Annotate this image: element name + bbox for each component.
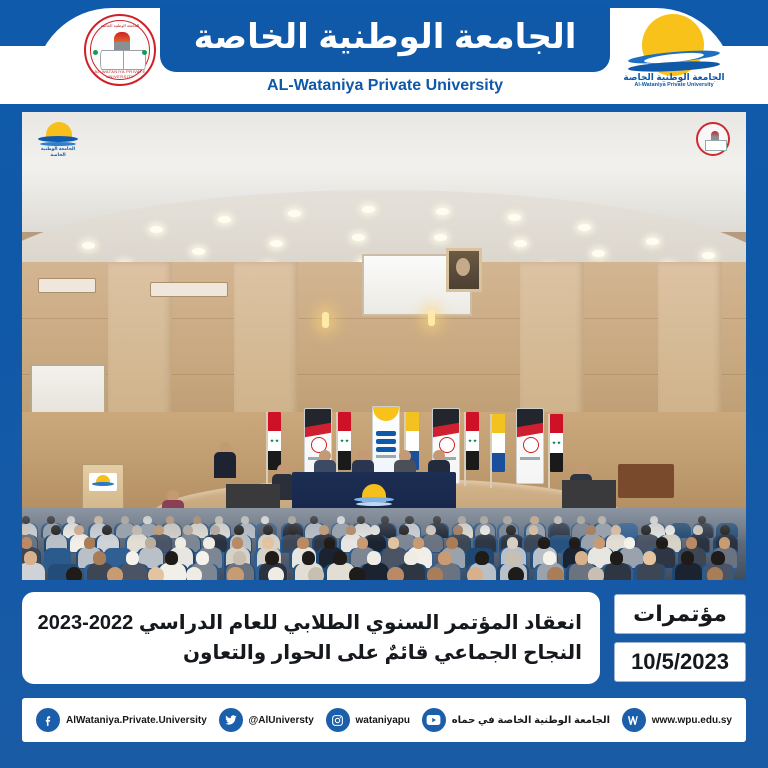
audience-member-head <box>388 537 399 548</box>
audience-member-head <box>643 551 657 565</box>
national-flag <box>550 414 563 472</box>
audience-member-headscarf <box>261 516 269 524</box>
flag-band-bottom <box>492 453 505 472</box>
audience-member-head <box>66 567 82 580</box>
side-table <box>618 464 674 498</box>
banner-text-line <box>376 455 396 458</box>
ceiling-lamp <box>514 240 527 247</box>
audience-member-head <box>698 516 706 524</box>
ceiling-lamp <box>646 238 659 245</box>
national-flag <box>466 412 479 470</box>
audience-member-headscarf <box>121 516 129 524</box>
ceiling-lamp <box>82 242 95 249</box>
audience-member-headscarf <box>126 551 140 565</box>
audience-member-head <box>387 567 403 580</box>
social-handle-label: wataniyapu <box>356 715 410 726</box>
audience-member-head <box>227 567 243 580</box>
header-english-title: AL-Wataniya Private University <box>160 74 610 98</box>
audience-member-head <box>453 525 463 535</box>
audience-member-headscarf <box>577 516 585 524</box>
audience-member-head <box>399 525 409 535</box>
caption-box: انعقاد المؤتمر السنوي الطلابي للعام الدر… <box>22 592 600 684</box>
audience-member-head <box>656 537 667 548</box>
audience-member-head <box>438 551 452 565</box>
audience-member-head <box>427 567 443 580</box>
seal-dot-left-icon <box>93 50 98 55</box>
event-photo-frame: الجامعة الوطنية الخاصة <box>22 112 746 580</box>
audience-member-head <box>610 551 624 565</box>
audience-member-head <box>232 537 243 548</box>
audience-member-head <box>433 516 441 524</box>
audience-member-headscarf <box>506 551 520 565</box>
podium-wave-icon <box>92 482 114 486</box>
table-wave2-icon <box>356 502 392 506</box>
audience-member-headscarf <box>370 525 380 535</box>
audience-member-head <box>94 516 102 524</box>
wall-sconce <box>428 310 435 326</box>
audience-member-headscarf <box>308 567 324 580</box>
audience-member-head <box>324 537 335 548</box>
audience-member-headscarf <box>67 516 75 524</box>
audience-member-headscarf <box>543 551 557 565</box>
seal-dot-right-icon <box>142 50 147 55</box>
audience-member-body <box>604 563 632 580</box>
wall-pier <box>234 262 298 432</box>
ceiling-lamp <box>352 234 365 241</box>
audience-member-headscarf <box>588 567 604 580</box>
ceiling-lamp <box>192 248 205 255</box>
social-handle-label: الجامعة الوطنية الخاصة في حماه <box>452 715 610 726</box>
social-footer: AlWataniya.Private.University@AlUniverst… <box>22 698 746 742</box>
audience-member-headscarf <box>22 525 30 535</box>
ceiling-lamp <box>434 234 447 241</box>
audience-member-head <box>165 551 179 565</box>
national-flag <box>268 412 281 470</box>
audience-member-headscarf <box>215 516 223 524</box>
flag-band-top <box>338 412 351 431</box>
twitter-icon <box>219 708 243 732</box>
audience-member-head <box>381 516 389 524</box>
audience-member-body <box>637 563 665 580</box>
watermark-label: الجامعة الوطنية الخاصة <box>36 146 80 158</box>
audience-member-head <box>686 537 697 548</box>
audience-member-head <box>475 551 489 565</box>
audience-member-headscarf <box>404 551 418 565</box>
audience-member-headscarf <box>288 516 296 524</box>
audience-member-headscarf <box>458 516 466 524</box>
audience-member-head <box>102 525 112 535</box>
ceiling-lamp <box>362 206 375 213</box>
audience-member-head <box>319 525 329 535</box>
caption-area: انعقاد المؤتمر السنوي الطلابي للعام الدر… <box>22 592 746 684</box>
air-vent <box>38 278 96 293</box>
page-header: الجامعة الوطنية الخاصة AL-Wataniya Priva… <box>0 0 768 104</box>
audience-member-head <box>681 551 695 565</box>
caption-line-1: انعقاد المؤتمر السنوي الطلابي للعام الدر… <box>38 608 582 638</box>
wall-pier <box>658 262 722 432</box>
audience-member-headscarf <box>624 537 635 548</box>
audience-member-head <box>310 516 318 524</box>
audience-member-headscarf <box>480 516 488 524</box>
audience-member-body <box>361 563 389 580</box>
flag-band-top <box>466 412 479 431</box>
flag-band-mid <box>338 431 351 451</box>
flag-band-mid <box>406 431 419 451</box>
banner-bar <box>376 431 396 436</box>
audience-member-body <box>675 563 703 580</box>
ceiling-lamp <box>578 224 591 231</box>
ceiling-lamp <box>288 210 301 217</box>
banner-text-line <box>520 457 540 460</box>
rollup-banner <box>516 408 544 484</box>
flag-band-mid <box>466 431 479 451</box>
audience-member-head <box>302 551 316 565</box>
youtube-icon <box>422 708 446 732</box>
flag-band-mid <box>268 431 281 451</box>
university-seal-icon: الجامعة الوطنية الخاصة AL-WATANIYA PRIVA… <box>84 14 156 86</box>
flag-band-bottom <box>550 453 563 472</box>
audience-member-headscarf <box>145 537 156 548</box>
audience-member-head <box>346 525 356 535</box>
audience-member-head <box>84 537 95 548</box>
university-sun-logo-icon: الجامعة الوطنية الخاصة Al-Wataniya Priva… <box>622 12 726 92</box>
audience-member-body <box>120 563 148 580</box>
ceiling-lamp <box>218 216 231 223</box>
audience-member-headscarf <box>507 537 518 548</box>
audience-member-headscarf <box>143 516 151 524</box>
audience-member-headscarf <box>196 551 210 565</box>
ceiling-lamp <box>150 226 163 233</box>
audience-member-head <box>107 567 123 580</box>
audience-member-head <box>357 516 365 524</box>
social-link-instagram[interactable]: wataniyapu <box>326 708 410 732</box>
audience-member-headscarf <box>210 525 220 535</box>
audience-member-head <box>586 525 596 535</box>
audience-member-headscarf <box>132 525 142 535</box>
audience-member-head <box>262 537 273 548</box>
audience-member-head <box>22 537 32 548</box>
audience-member-head <box>707 567 723 580</box>
poster-canvas: الجامعة الوطنية الخاصة AL-Wataniya Priva… <box>0 0 768 768</box>
audience-member-headscarf <box>367 551 381 565</box>
audience-member-headscarf <box>337 516 345 524</box>
audience-member-head <box>575 551 589 565</box>
audience-member-head <box>506 525 516 535</box>
ceiling-lamp <box>592 250 605 257</box>
audience-member-head <box>193 516 201 524</box>
audience-member-head <box>711 551 725 565</box>
social-handle-label: AlWataniya.Private.University <box>66 715 207 726</box>
audience-member-head <box>547 567 563 580</box>
audience-member-headscarf <box>241 516 249 524</box>
audience-member-headscarf <box>175 537 186 548</box>
ceiling-lamp <box>702 252 715 259</box>
audience-member-head <box>47 516 55 524</box>
audience-member-head <box>641 525 651 535</box>
banner-bar <box>376 439 396 444</box>
audience-member-headscarf <box>480 525 490 535</box>
audience-member-body <box>22 563 45 580</box>
flag-band-bottom <box>338 451 351 470</box>
social-handle-label: www.wpu.edu.sy <box>652 715 732 726</box>
audience-member-head <box>263 525 273 535</box>
audience-member-headscarf <box>665 525 675 535</box>
flag-band-top <box>268 412 281 431</box>
audience-member-headscarf <box>186 567 202 580</box>
audience-member-head <box>594 537 605 548</box>
photo-watermark-logo-icon: الجامعة الوطنية الخاصة <box>36 122 80 154</box>
ceiling-lamp <box>270 240 283 247</box>
table-logo-icon <box>352 484 396 510</box>
caption-line-2: النجاح الجماعي قائمٌ على الحوار والتعاون <box>183 638 582 668</box>
social-link-youtube[interactable]: الجامعة الوطنية الخاصة في حماه <box>422 708 610 732</box>
air-vent <box>150 282 228 297</box>
audience-member-head <box>538 537 549 548</box>
seal-top-arc-text: الجامعة الوطنية الخاصة <box>86 23 154 28</box>
banner-emblem-icon <box>523 437 539 453</box>
podium-logo-plate <box>89 473 117 491</box>
wall-sconce <box>322 312 329 328</box>
banner-bar <box>376 447 396 452</box>
audience-member-head <box>530 516 538 524</box>
flag-band-bottom <box>466 451 479 470</box>
audience-member-head <box>413 537 424 548</box>
audience-member-head <box>349 567 365 580</box>
flag-band-mid <box>492 433 505 453</box>
audience-member-headscarf <box>503 516 511 524</box>
photo-seal-book-icon <box>705 140 727 151</box>
header-arabic-title: الجامعة الوطنية الخاصة <box>160 4 610 70</box>
event-photo: الجامعة الوطنية الخاصة <box>22 112 746 580</box>
photo-corner-seal-icon <box>696 122 730 156</box>
flag-band-top <box>492 414 505 433</box>
audience-member-head <box>611 525 621 535</box>
sun-logo-english-label: Al-Wataniya Private University <box>622 82 726 88</box>
audience-member-head <box>405 516 413 524</box>
social-link-facebook[interactable]: AlWataniya.Private.University <box>36 708 207 732</box>
ceiling-lamp <box>436 208 449 215</box>
audience-member-head <box>446 537 457 548</box>
audience-member-head <box>569 537 580 548</box>
banner-header <box>373 407 399 421</box>
audience-member-head <box>265 551 279 565</box>
seal-book-icon <box>100 50 146 70</box>
university-flag <box>492 414 505 472</box>
audience-member-head <box>288 525 298 535</box>
category-badge: مؤتمرات <box>614 594 746 634</box>
audience-member-headscarf <box>268 567 284 580</box>
date-badge: 10/5/2023 <box>614 642 746 682</box>
seal-bottom-arc-text: AL-WATANIYA PRIVATE UNIVERSITY <box>86 69 154 79</box>
audience-member-headscarf <box>693 525 703 535</box>
standing-attendee <box>214 442 236 468</box>
flag-band-top <box>406 412 419 431</box>
audience-member-head <box>24 551 38 565</box>
wall-pier <box>520 262 584 432</box>
national-flag <box>338 412 351 470</box>
flag-band-mid <box>550 433 563 453</box>
audience-member-headscarf <box>233 551 247 565</box>
social-handle-label: @AlUniversty <box>249 715 314 726</box>
audience-member-headscarf <box>203 537 214 548</box>
audience-member-head <box>148 567 164 580</box>
wall-portrait <box>446 248 482 292</box>
audience-member-head <box>333 551 347 565</box>
flag-band-top <box>550 414 563 433</box>
audience-member-head <box>719 537 730 548</box>
instagram-icon <box>326 708 350 732</box>
audience-member-headscarf <box>183 525 193 535</box>
audience-member-headscarf <box>598 516 606 524</box>
person-body <box>214 452 236 478</box>
audience-member-head <box>467 567 483 580</box>
facebook-icon <box>36 708 60 732</box>
audience-member-head <box>297 537 308 548</box>
ceiling-lamp <box>508 214 521 221</box>
audience-member-head <box>93 551 107 565</box>
social-link-website[interactable]: www.wpu.edu.sy <box>622 708 732 732</box>
audience-member-head <box>357 537 368 548</box>
audience-member-headscarf <box>650 516 658 524</box>
website-icon <box>622 708 646 732</box>
audience-member-head <box>508 567 524 580</box>
social-link-twitter[interactable]: @AlUniversty <box>219 708 314 732</box>
audience-member-head <box>51 525 61 535</box>
audience-member-head <box>166 516 174 524</box>
audience-member-headscarf <box>554 516 562 524</box>
audience-member-head <box>22 516 30 524</box>
